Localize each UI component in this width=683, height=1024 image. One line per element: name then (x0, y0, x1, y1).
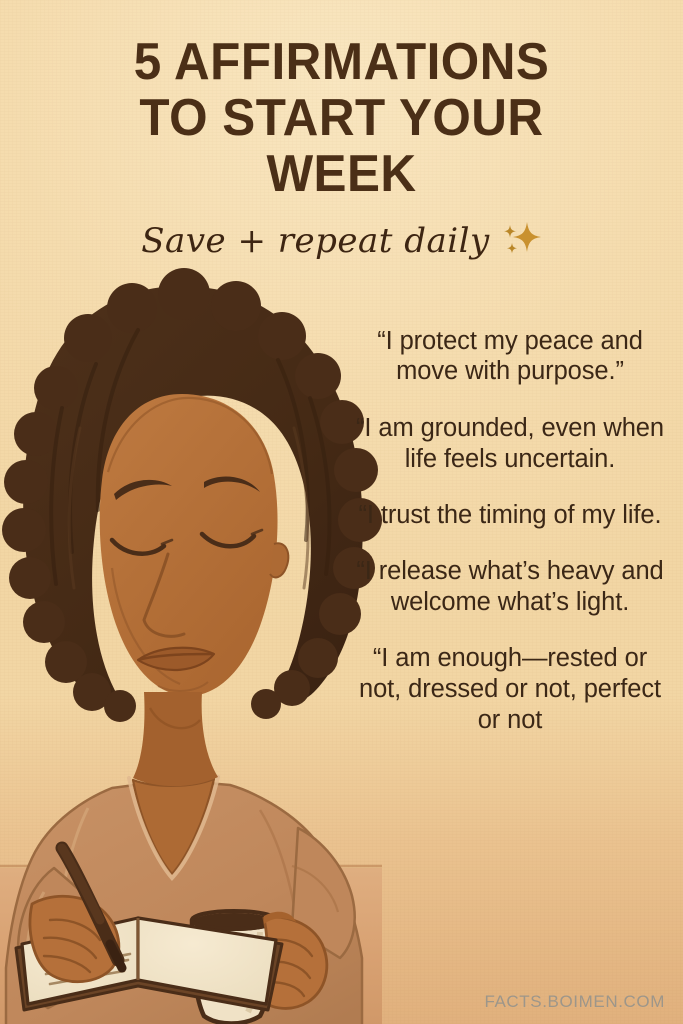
affirmation-item: “I am enough—rested or not, dressed or n… (351, 643, 669, 736)
poster-header: 5 AFFIRMATIONS TO START YOUR WEEK Save +… (30, 34, 653, 265)
page-title: 5 AFFIRMATIONS TO START YOUR WEEK (30, 34, 653, 202)
affirmations-list: “I protect my peace and move with purpos… (351, 300, 669, 736)
affirmations-poster: 5 AFFIRMATIONS TO START YOUR WEEK Save +… (0, 0, 683, 1024)
sparkle-icon (500, 218, 542, 265)
woman-journaling-illustration (0, 268, 382, 1024)
affirmation-item: “I release what’s heavy and welcome what… (351, 556, 669, 618)
affirmation-item: “I am grounded, even when life feels unc… (351, 413, 669, 475)
title-line-3: WEEK (46, 146, 638, 202)
title-line-2: TO START YOUR (46, 90, 638, 146)
subtitle: Save + repeat daily (141, 223, 490, 260)
subtitle-row: Save + repeat daily (30, 218, 653, 265)
face (100, 394, 289, 786)
watermark: FACTS.BOIMEN.COM (484, 992, 665, 1012)
affirmation-item: “I protect my peace and move with purpos… (351, 326, 669, 388)
title-line-1: 5 AFFIRMATIONS (46, 34, 638, 90)
affirmation-item: “I trust the timing of my life. (351, 500, 669, 531)
